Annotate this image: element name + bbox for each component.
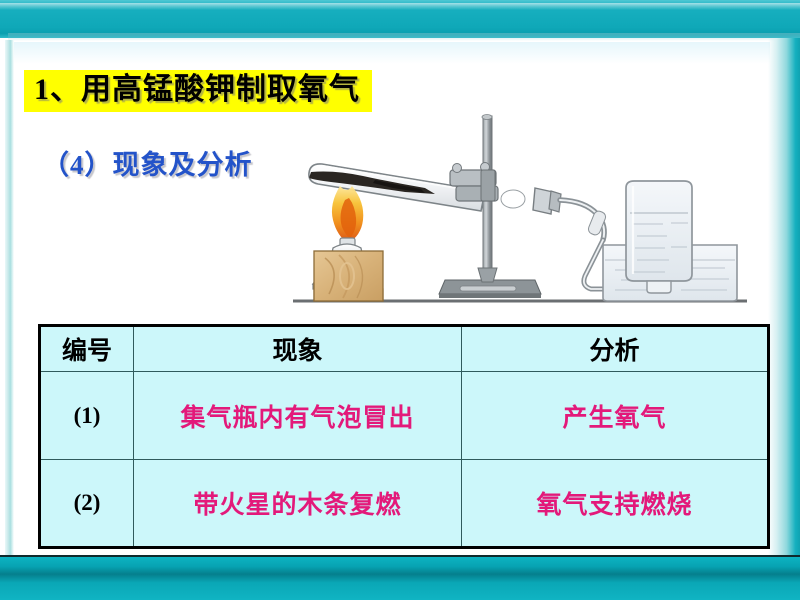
top-band-shadow <box>8 33 800 41</box>
header-cell-phenomenon: 现象 <box>134 326 462 372</box>
row-phenomenon: 带火星的木条复燃 <box>134 460 462 548</box>
cotton-plug <box>501 190 525 208</box>
apparatus-figure <box>285 108 750 313</box>
row-index: (2) <box>40 460 134 548</box>
row-analysis: 产生氧气 <box>462 372 769 460</box>
row-phenomenon: 集气瓶内有气泡冒出 <box>134 372 462 460</box>
content-top-tint <box>14 42 770 64</box>
phenomenon-analysis-table: 编号 现象 分析 (1) 集气瓶内有气泡冒出 产生氧气 (2) 带火星的木条复燃… <box>38 324 770 549</box>
bottom-decorative-band <box>0 557 800 600</box>
row-index: (1) <box>40 372 134 460</box>
flame <box>332 186 363 243</box>
left-decorative-border <box>5 40 14 560</box>
top-band-gloss <box>0 3 800 10</box>
right-decorative-band <box>768 38 800 560</box>
table-row: (2) 带火星的木条复燃 氧气支持燃烧 <box>40 460 769 548</box>
slide-title-highlight: 1、用高锰酸钾制取氧气 <box>24 70 372 112</box>
table-header-row: 编号 现象 分析 <box>40 326 769 372</box>
slide-canvas: 1、用高锰酸钾制取氧气 （4）现象及分析 <box>0 0 800 600</box>
slide-subtitle: （4）现象及分析 <box>42 143 253 182</box>
table-row: (1) 集气瓶内有气泡冒出 产生氧气 <box>40 372 769 460</box>
rubber-stopper <box>533 188 561 214</box>
header-cell-analysis: 分析 <box>462 326 769 372</box>
gas-collecting-bottle <box>626 181 692 293</box>
row-analysis: 氧气支持燃烧 <box>462 460 769 548</box>
slide-title: 1、用高锰酸钾制取氧气 <box>34 72 360 108</box>
wooden-block <box>314 251 383 301</box>
header-cell-no: 编号 <box>40 326 134 372</box>
